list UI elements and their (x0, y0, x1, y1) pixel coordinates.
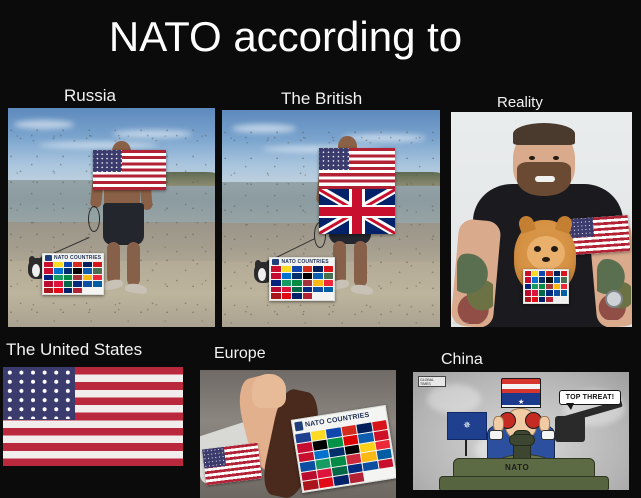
poster-title: NATO COUNTRIES (281, 259, 328, 265)
beach-scene-british: NATO COUNTRIES (222, 110, 440, 327)
machine-gun-body (555, 416, 585, 442)
us-flag-held-russia (93, 150, 166, 190)
strongman-hair (513, 123, 575, 145)
panel-russia: NATO COUNTRIES (8, 108, 215, 327)
beach-scene-russia: NATO COUNTRIES (8, 108, 215, 327)
nato-compass-icon: ✵ (448, 421, 486, 430)
speech-bubble: TOP THREAT! (559, 390, 621, 405)
watermark: instagram (453, 321, 468, 325)
panel-label-reality: Reality (497, 93, 543, 113)
nato-countries-poster-russia: NATO COUNTRIES (42, 253, 104, 295)
cartoon-credit: GLOBAL TIMES (418, 376, 446, 387)
poster-title: NATO COUNTRIES (54, 255, 101, 261)
panel-label-russia: Russia (64, 86, 116, 106)
nato-countries-poster-europe: NATO COUNTRIES (291, 405, 396, 493)
panel-label-the-british: The British (281, 89, 362, 109)
solidarity-painting: NATO COUNTRIES (200, 370, 396, 498)
meme-title: NATO according to (0, 12, 641, 62)
union-jack-flag-british (319, 189, 395, 234)
tattoo-left (457, 252, 493, 324)
uncle-sam-hat: ★ (501, 378, 541, 408)
us-flag-held-british (319, 148, 395, 189)
panel-label-the-united-states: The United States (6, 340, 142, 360)
panel-reality: instagram (451, 112, 632, 327)
panel-europe: NATO COUNTRIES (200, 370, 396, 498)
panel-label-china: China (441, 350, 483, 370)
nato-countries-poster-british: NATO COUNTRIES (269, 257, 335, 301)
tank-label: NATO (505, 463, 529, 472)
us-flag-full (3, 367, 183, 466)
meme-image: NATO according to Russia The British Rea… (0, 0, 641, 498)
nato-flag: ✵ (447, 412, 487, 440)
tank-tracks (439, 476, 609, 490)
us-flag-small-europe (202, 443, 262, 486)
wristwatch (605, 290, 623, 308)
strongman-scene: instagram (451, 112, 632, 327)
panel-china: GLOBAL TIMES ✵ ★ TOP THRE (413, 372, 629, 490)
us-flag-patch-reality (570, 215, 630, 255)
political-cartoon: GLOBAL TIMES ✵ ★ TOP THRE (413, 372, 629, 490)
panel-label-europe: Europe (214, 344, 266, 364)
panel-the-british: NATO COUNTRIES (222, 110, 440, 327)
tattoo-right (597, 258, 631, 320)
nato-flags-card-reality (523, 269, 569, 304)
panel-the-united-states (3, 367, 183, 466)
